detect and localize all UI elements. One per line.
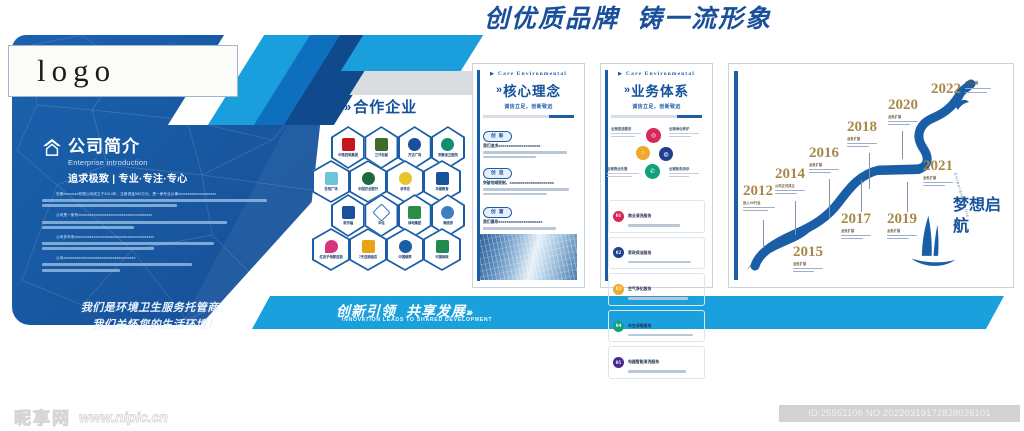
- partner-logo-mark: [362, 172, 375, 185]
- service-number: 02: [613, 247, 624, 258]
- watermark-url: www.nipic.cn: [79, 409, 168, 425]
- diagram-label: 全案除虫消杀: [669, 166, 699, 179]
- core-section: 创 富 我们倡导xxxxxxxxxxxxxxxxxxxxx: [483, 200, 574, 230]
- diagram-label: 全案绿化养护: [669, 126, 699, 139]
- timeline-caption: 业务扩展: [888, 114, 918, 119]
- timeline-caption: 业务扩展: [847, 136, 877, 141]
- diagram-label: 全案保洁服务: [611, 126, 641, 139]
- partner-logo-mark: [325, 240, 338, 253]
- timeline-year: 2022: [931, 82, 961, 97]
- triangle-icon: ▶: [490, 71, 495, 77]
- partner-row: 中铁四局集团 三只松鼠 万达广场 安徽省立医院: [331, 126, 464, 160]
- core-title-text: 核心理念: [503, 80, 561, 100]
- partner-caption: 绿地集团: [408, 220, 421, 225]
- service-item[interactable]: 04 杀虫消毒服务: [608, 310, 705, 343]
- partner-caption: 安徽省立医院: [438, 152, 458, 157]
- timeline-year: 2017: [841, 212, 871, 227]
- service-name: 杀虫消毒服务: [628, 323, 651, 328]
- partner-caption: 中国邮政: [435, 254, 448, 259]
- timeline-event: 2018 业务扩展: [847, 120, 877, 147]
- timeline-panel: 2012 进入XX行业 2014 公司正式成立 2015 业务扩展 2016 业…: [728, 63, 1014, 288]
- site-watermark: 昵享网 www.nipic.cn: [14, 404, 168, 429]
- service-item[interactable]: 01 商业清洗服务: [608, 200, 705, 233]
- image-id-badge: ID:25951106 NO:20220319172828026101: [779, 405, 1020, 422]
- partner-logo-mark: [399, 172, 412, 185]
- biz-care-text: Care Environmental: [626, 71, 695, 77]
- timeline-caption: 进入XX行业: [743, 200, 775, 205]
- timeline-caption: 业务扩展: [965, 80, 978, 85]
- headline-right: 铸一流形象: [637, 5, 772, 33]
- timeline-year: 2020: [888, 98, 918, 113]
- service-number: 03: [613, 284, 624, 295]
- sailboat-logo: 梦想启航 Corporate profile: [911, 193, 1007, 283]
- diagram-node: ✆: [645, 164, 660, 179]
- core-section-badge: 创 富: [483, 207, 512, 218]
- core-care-text: Care Environmental: [498, 71, 567, 77]
- core-panel-title: » 核心理念: [473, 80, 584, 100]
- partner-logo-mark: [436, 172, 449, 185]
- service-number: 01: [613, 211, 624, 222]
- partner-caption: 家乐福: [343, 220, 353, 225]
- biz-title-text: 业务体系: [631, 80, 689, 100]
- company-intro-subtitle-en: Enterprise introduction: [68, 158, 272, 167]
- partner-caption: 中铁四局集团: [338, 152, 358, 157]
- core-section: 创 新 我们追求xxxxxxxxxxxxxxxxxxxx: [483, 124, 574, 158]
- partner-logo-mark: [408, 206, 421, 219]
- triangle-icon: ▶: [618, 71, 623, 77]
- partner-caption: 卓亨达: [400, 186, 410, 191]
- sail-title: 梦想启航: [953, 195, 1001, 283]
- core-section-badge: 创 造: [483, 168, 512, 179]
- core-chevron-icon: »: [496, 84, 499, 96]
- ribbon-subtitle-en: INNOVATION LEADS TO SHARED DEVELOPMENT: [342, 317, 492, 323]
- partner-caption: 中国农业银行: [358, 186, 378, 191]
- core-section-lead: 我们倡导xxxxxxxxxxxxxxxxxxxxx: [483, 220, 574, 225]
- partner-logo-mark: [408, 138, 421, 151]
- business-diagram: ◎ ◍ ⌂ ✆ 全案保洁服务 全案绿化养护 全案物业托管 全案除虫消杀: [601, 122, 712, 196]
- headline-left: 创优质品牌: [484, 5, 619, 33]
- intro-paragraph: 公司多年来xxxxxxxxxxxxxxxxxxxxxxxxxxxxxxxxxxx…: [42, 235, 272, 250]
- timeline-event: 2021 业务扩展: [923, 159, 953, 186]
- partner-caption: 7天连锁酒店: [359, 254, 377, 259]
- core-section-lead: 我们追求xxxxxxxxxxxxxxxxxxxx: [483, 144, 574, 149]
- timeline-year: 2021: [923, 159, 953, 174]
- poster-headline: 创优质品牌铸一流形象: [418, 2, 838, 36]
- biz-panel-divider: [611, 115, 702, 118]
- partners-title-text: 合作企业: [353, 96, 417, 117]
- timeline-event: 2017 业务扩展: [841, 212, 871, 239]
- partner-hex[interactable]: 中国邮政: [423, 228, 461, 271]
- service-name: 商业清洗服务: [628, 213, 651, 218]
- timeline-event: 2012 进入XX行业: [743, 184, 775, 211]
- intro-paragraph: 公司xxxxxxxxxxxxxxxxxxxxxxxxxxxxxxxxxxxxxx: [42, 256, 272, 271]
- company-intro-tagline: 追求极致 | 专业·专注·专心: [68, 170, 272, 185]
- partner-caption: 海底捞: [443, 220, 453, 225]
- core-care-label: ▶ Care Environmental: [473, 71, 584, 77]
- diagram-label: 全案物业托管: [607, 166, 639, 179]
- service-item[interactable]: 02 家政保洁服务: [608, 237, 705, 270]
- timeline-caption: 业务扩展: [841, 228, 871, 233]
- poster-canvas: 创优质品牌铸一流形象 logo: [0, 0, 1024, 431]
- timeline-event: 2016 业务扩展: [809, 146, 839, 173]
- partners-section: » 合作企业 中铁四局集团 三只松鼠 万达广场 安徽省立医院 吾悦广场 中国农业…: [312, 96, 464, 296]
- timeline-caption: 业务扩展: [793, 261, 823, 266]
- partner-logo-mark: [441, 138, 454, 151]
- service-number: 04: [613, 321, 624, 332]
- cyan-wedge: [341, 35, 483, 71]
- partner-caption: 华图教育: [435, 186, 448, 191]
- partner-logo-mark: [325, 172, 338, 185]
- partner-logo-mark: [372, 203, 390, 221]
- core-section-badge: 创 新: [483, 131, 512, 142]
- partner-logo-mark: [375, 138, 388, 151]
- business-system-panel: ▶ Care Environmental » 业务体系 诚信立足，创新致远 ◎ …: [600, 63, 713, 288]
- timeline-caption: 业务扩展: [923, 175, 953, 180]
- core-panel-divider: [483, 115, 574, 118]
- company-intro: 公司简介 Enterprise introduction 追求极致 | 专业·专…: [42, 138, 272, 278]
- service-name: 家政保洁服务: [628, 250, 651, 255]
- partner-logo-mark: [362, 240, 375, 253]
- diagram-node: ⌂: [636, 146, 650, 160]
- service-item[interactable]: 03 空气净化服务: [608, 273, 705, 306]
- core-panel-subtitle: 诚信立足，创新致远: [473, 103, 584, 110]
- partner-row: 吾悦广场 中国农业银行 卓亨达 华图教育: [312, 160, 464, 194]
- timeline-year: 2016: [809, 146, 839, 161]
- diagram-node: ◍: [659, 147, 673, 161]
- logo-plate: logo: [8, 45, 238, 97]
- intro-paragraph-lead: 公司xxxxxxxxxxxxxxxxxxxxxxxxxxxxxxxxxxxxxx: [56, 256, 272, 261]
- partners-header: » 合作企业: [344, 96, 464, 117]
- watermark-brand: 昵享网: [14, 404, 71, 429]
- company-intro-title: 公司简介: [68, 138, 140, 156]
- timeline-caption: 公司正式成立: [775, 183, 805, 188]
- logo-text: logo: [37, 53, 116, 89]
- timeline-event: 2014 公司正式成立: [775, 167, 805, 194]
- core-section: 创 造 突破地域限制，xxxxxxxxxxxxxxxxxxxxx: [483, 161, 574, 195]
- timeline-year: 2018: [847, 120, 877, 135]
- slogan-line-1: 我们是环境卫生服务托管商，: [48, 300, 263, 317]
- ribbon-title: 创新引领共享发展›››: [336, 301, 576, 318]
- biz-panel-title: » 业务体系: [601, 80, 712, 100]
- service-name: 空气净化服务: [628, 286, 651, 291]
- company-intro-body: 安徽xxxxxxxx有限公司成立于2014年，注册资金500万元，是一家专业从事…: [42, 192, 272, 272]
- intro-paragraph-lead: 公司多年来xxxxxxxxxxxxxxxxxxxxxxxxxxxxxxxxxxx…: [56, 235, 272, 240]
- intro-paragraph-lead: 公司是一家有xxxxxxxxxxxxxxxxxxxxxxxxxxxxxxxxxx…: [56, 213, 272, 218]
- partner-caption: 红孩子母婴连锁: [319, 254, 342, 259]
- timeline-rail: [734, 71, 738, 280]
- biz-panel-subtitle: 诚信立足，创新致远: [601, 103, 712, 110]
- partner-caption: 吾悦广场: [324, 186, 337, 191]
- timeline-year: 2015: [793, 245, 823, 260]
- core-section-lead: 突破地域限制，xxxxxxxxxxxxxxxxxxxxx: [483, 181, 574, 186]
- core-concept-panel: ▶ Care Environmental » 核心理念 诚信立足，创新致远 创 …: [472, 63, 585, 288]
- biz-chevron-icon: »: [624, 84, 627, 96]
- intro-paragraph: 公司是一家有xxxxxxxxxxxxxxxxxxxxxxxxxxxxxxxxxx…: [42, 213, 272, 228]
- timeline-event: 2022 业务扩展: [931, 82, 961, 97]
- timeline-caption: 业务扩展: [809, 162, 839, 167]
- partner-logo-mark: [342, 206, 355, 219]
- biz-care-label: ▶ Care Environmental: [601, 71, 712, 77]
- building-photo: [480, 234, 577, 280]
- partner-logo-mark: [399, 240, 412, 253]
- partner-logo-grid: 中铁四局集团 三只松鼠 万达广场 安徽省立医院 吾悦广场 中国农业银行 卓亨达 …: [312, 126, 464, 262]
- company-slogan: 我们是环境卫生服务托管商， 我们关怀您的生活环境！: [48, 300, 263, 334]
- intro-paragraph: 安徽xxxxxxxx有限公司成立于2014年，注册资金500万元，是一家专业从事…: [42, 192, 272, 207]
- timeline-year: 2014: [775, 167, 805, 182]
- partner-caption: 三只松鼠: [375, 152, 388, 157]
- service-number: 05: [613, 357, 624, 368]
- company-intro-header: 公司简介: [42, 138, 272, 156]
- partner-row: 红孩子母婴连锁 7天连锁酒店 中国烟草 中国邮政: [312, 228, 464, 262]
- partner-caption: 万达广场: [408, 152, 421, 157]
- timeline-year: 2012: [743, 184, 775, 199]
- timeline-event: 2020 业务扩展: [888, 98, 918, 125]
- timeline-event: 2015 业务扩展: [793, 245, 823, 272]
- home-icon: [42, 138, 62, 156]
- service-item[interactable]: 05 电器智能清洗服务: [608, 346, 705, 379]
- partner-row: 家乐福 华住 绿地集团 海底捞: [331, 194, 464, 228]
- partners-chevron-icon: »: [344, 99, 348, 114]
- partner-logo-mark: [436, 240, 449, 253]
- partner-logo-mark: [441, 206, 454, 219]
- partner-caption: 中国烟草: [398, 254, 411, 259]
- diagram-node: ◎: [646, 128, 661, 143]
- partner-logo-mark: [342, 138, 355, 151]
- intro-paragraph-lead: 安徽xxxxxxxx有限公司成立于2014年，注册资金500万元，是一家专业从事…: [56, 192, 272, 197]
- service-name: 电器智能清洗服务: [628, 359, 659, 364]
- slogan-line-2: 我们关怀您的生活环境！: [48, 317, 263, 334]
